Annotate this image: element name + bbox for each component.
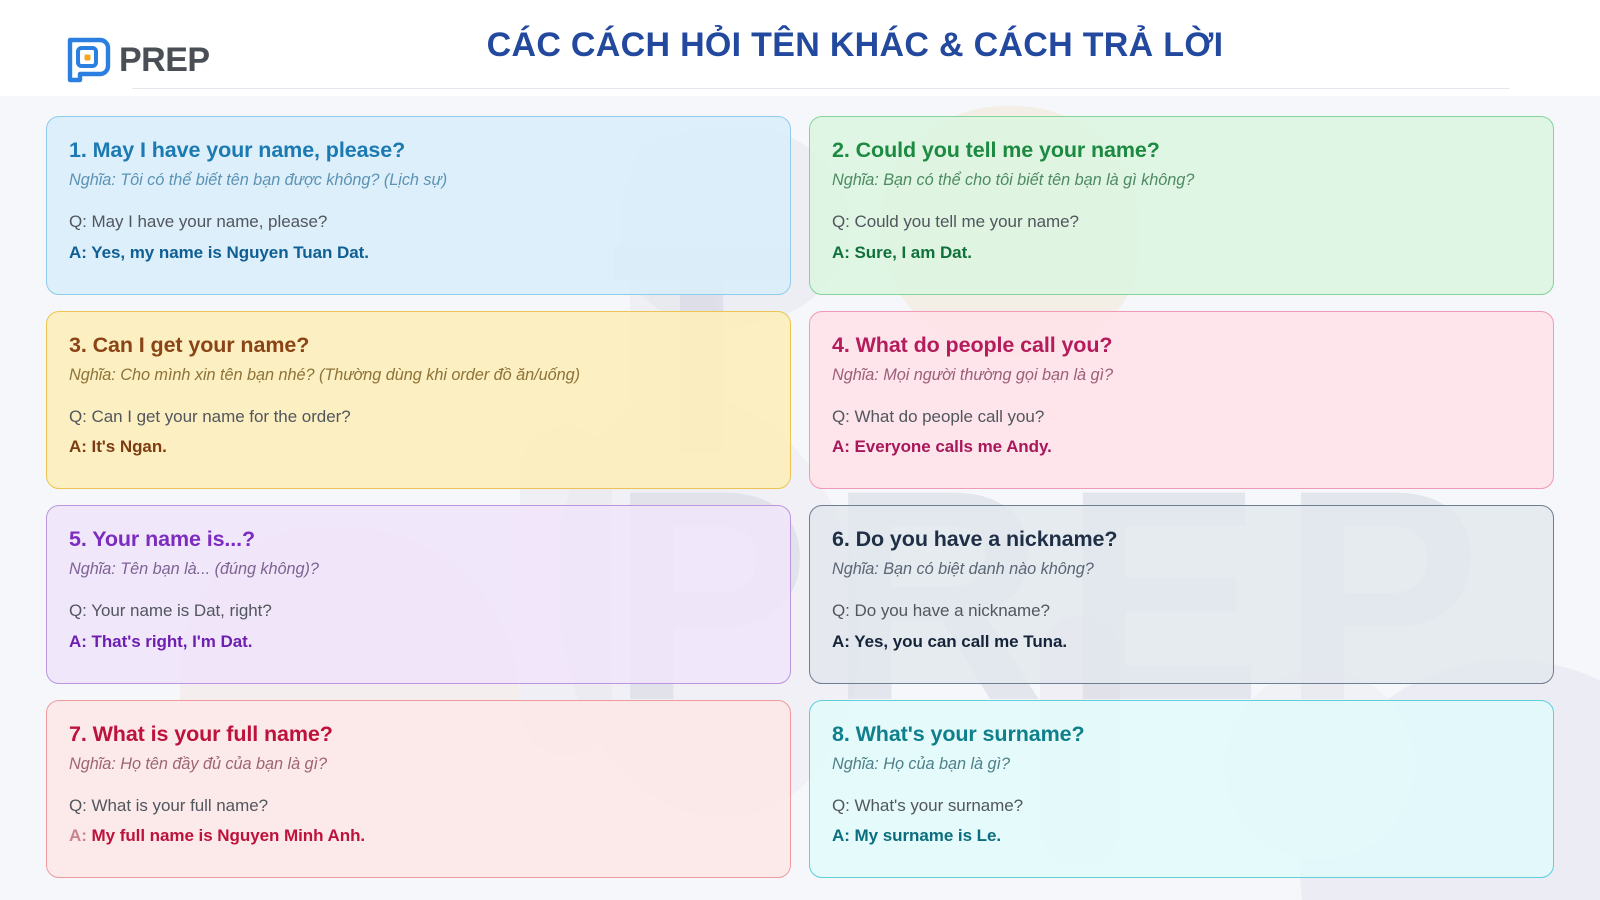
card-meaning: Nghĩa: Tên bạn là... (đúng không)? [69,559,768,580]
card-8[interactable]: 8. What's your surname? Nghĩa: Họ của bạ… [809,700,1554,879]
answer-text: It's Ngan. [92,437,167,456]
answer-prefix: A: [69,826,92,845]
answer-prefix: A: [832,632,854,651]
answer-text: That's right, I'm Dat. [92,632,253,651]
header-divider [132,88,1510,89]
card-title: 6. Do you have a nickname? [832,526,1531,552]
card-2[interactable]: 2. Could you tell me your name? Nghĩa: B… [809,116,1554,295]
card-3[interactable]: 3. Can I get your name? Nghĩa: Cho mình … [46,311,791,490]
card-meaning: Nghĩa: Bạn có thể cho tôi biết tên bạn l… [832,170,1531,191]
answer-prefix: A: [832,826,855,845]
card-meaning: Nghĩa: Họ của bạn là gì? [832,754,1531,775]
card-question: Q: Do you have a nickname? [832,600,1531,622]
card-question: Q: Can I get your name for the order? [69,406,768,428]
card-5[interactable]: 5. Your name is...? Nghĩa: Tên bạn là...… [46,505,791,684]
card-meaning: Nghĩa: Mọi người thường gọi bạn là gì? [832,365,1531,386]
page-header: PREP CÁC CÁCH HỎI TÊN KHÁC & CÁCH TRẢ LỜ… [0,0,1600,96]
card-question: Q: Your name is Dat, right? [69,600,768,622]
answer-text: Yes, my name is Nguyen Tuan Dat. [91,243,369,262]
card-question: Q: What's your surname? [832,795,1531,817]
card-title: 5. Your name is...? [69,526,768,552]
card-answer: A: My surname is Le. [832,825,1531,847]
answer-text: Everyone calls me Andy. [855,437,1052,456]
card-question: Q: What is your full name? [69,795,768,817]
card-question: Q: What do people call you? [832,406,1531,428]
card-title: 1. May I have your name, please? [69,137,768,163]
card-question: Q: May I have your name, please? [69,211,768,233]
cards-grid: 1. May I have your name, please? Nghĩa: … [0,96,1600,900]
answer-prefix: A: [69,437,92,456]
card-title: 4. What do people call you? [832,332,1531,358]
card-answer: A: Yes, my name is Nguyen Tuan Dat. [69,242,768,264]
card-answer: A: Yes, you can call me Tuna. [832,631,1531,653]
page-title: CÁC CÁCH HỎI TÊN KHÁC & CÁCH TRẢ LỜI [0,26,1600,65]
card-meaning: Nghĩa: Họ tên đầy đủ của bạn là gì? [69,754,768,775]
card-title: 7. What is your full name? [69,721,768,747]
answer-text: Sure, I am Dat. [855,243,972,262]
card-title: 2. Could you tell me your name? [832,137,1531,163]
card-meaning: Nghĩa: Tôi có thể biết tên bạn được khôn… [69,170,768,191]
page-body: T PREP 1. May I have your name, please? … [0,96,1600,900]
card-answer: A: It's Ngan. [69,436,768,458]
card-meaning: Nghĩa: Cho mình xin tên bạn nhé? (Thường… [69,365,768,386]
card-title: 3. Can I get your name? [69,332,768,358]
card-meaning: Nghĩa: Bạn có biệt danh nào không? [832,559,1531,580]
card-question: Q: Could you tell me your name? [832,211,1531,233]
answer-prefix: A: [69,632,92,651]
answer-prefix: A: [832,437,855,456]
card-4[interactable]: 4. What do people call you? Nghĩa: Mọi n… [809,311,1554,490]
card-answer: A: That's right, I'm Dat. [69,631,768,653]
card-title: 8. What's your surname? [832,721,1531,747]
card-answer: A: Sure, I am Dat. [832,242,1531,264]
answer-text: My surname is Le. [855,826,1002,845]
card-answer: A: Everyone calls me Andy. [832,436,1531,458]
answer-text: My full name is Nguyen Minh Anh. [92,826,366,845]
card-1[interactable]: 1. May I have your name, please? Nghĩa: … [46,116,791,295]
answer-text: Yes, you can call me Tuna. [854,632,1067,651]
answer-prefix: A: [69,243,91,262]
card-7[interactable]: 7. What is your full name? Nghĩa: Họ tên… [46,700,791,879]
card-6[interactable]: 6. Do you have a nickname? Nghĩa: Bạn có… [809,505,1554,684]
answer-prefix: A: [832,243,855,262]
card-answer: A: My full name is Nguyen Minh Anh. [69,825,768,847]
